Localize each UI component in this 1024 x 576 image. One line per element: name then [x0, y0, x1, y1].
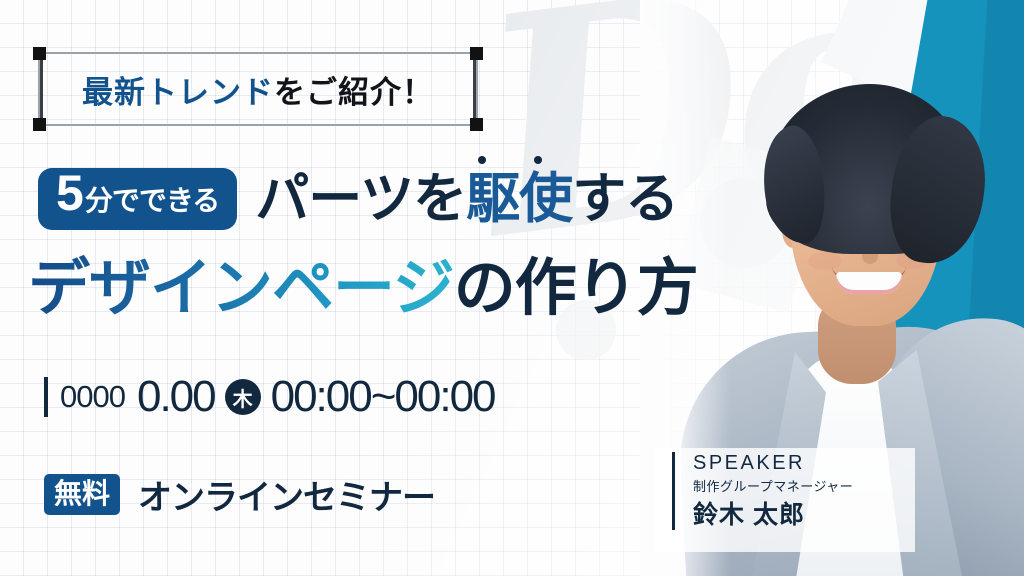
headline-line-1: パーツを駆使する: [255, 172, 678, 226]
price-badge: 無料: [44, 474, 120, 515]
kicker-suffix: をご紹介！: [274, 75, 434, 110]
headline-2-plain: の作り方: [454, 254, 698, 323]
corner-handle-bottom-right[interactable]: [470, 118, 483, 131]
mouth: [836, 272, 902, 294]
event-type-row: 無料 オンラインセミナー: [44, 470, 435, 519]
speaker-name: 鈴木 太郎: [693, 500, 853, 530]
kicker-edge-right: [473, 54, 476, 128]
headline-1-emphasis: 駆使: [466, 169, 572, 229]
headline-line-2: デザインページの作り方: [28, 258, 698, 320]
kicker-edge-left: [40, 54, 43, 128]
kicker-highlight: 最新トレンド: [82, 75, 274, 110]
seminar-banner: Design: [0, 0, 1024, 576]
duration-badge: 5 分でできる: [38, 168, 237, 230]
speaker-role: 制作グループマネージャー: [693, 479, 853, 495]
schedule-year: 0000: [60, 379, 125, 415]
corner-handle-top-left[interactable]: [33, 47, 46, 60]
kicker-text: 最新トレンドをご紹介！: [82, 67, 434, 112]
corner-handle-top-right[interactable]: [470, 47, 483, 60]
schedule-accent-bar: [44, 377, 48, 417]
corner-handle-bottom-left[interactable]: [33, 118, 46, 131]
headline-row-1: 5 分でできる パーツを駆使する: [38, 168, 678, 230]
duration-number: 5: [56, 168, 83, 218]
headline-1-part-c: する: [572, 169, 678, 229]
schedule-month-day: 0.00: [137, 372, 215, 422]
duration-label: 分でできる: [85, 187, 219, 215]
headline-1-part-a: パーツを: [255, 169, 466, 229]
kicker-box: 最新トレンドをご紹介！: [38, 52, 478, 126]
speaker-block: SPEAKER 制作グループマネージャー 鈴木 太郎: [672, 452, 853, 530]
schedule-row: 0000 0.00 木 00:00~00:00: [44, 372, 495, 422]
schedule-time: 00:00~00:00: [271, 372, 495, 422]
headline-2-gradient: デザインページ: [28, 254, 454, 323]
speaker-label: SPEAKER: [693, 452, 853, 475]
event-type-label: オンラインセミナー: [138, 470, 435, 519]
schedule-day-of-week: 木: [225, 379, 261, 415]
